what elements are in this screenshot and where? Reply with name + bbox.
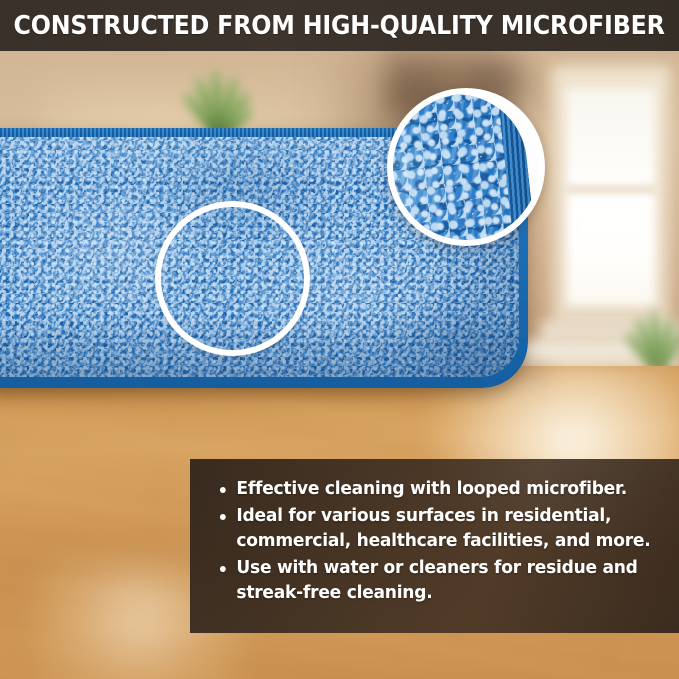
potted-plant — [158, 47, 268, 133]
banner-title: CONSTRUCTED FROM HIGH-QUALITY MICROFIBER — [14, 11, 665, 41]
pad-stitching-bottom — [0, 376, 519, 388]
list-item: Use with water or cleaners for residue a… — [218, 556, 652, 607]
magnified-inset-content — [393, 94, 539, 240]
list-item: Ideal for various surfaces in residentia… — [218, 504, 652, 555]
texture-highlight-ring — [155, 201, 310, 356]
potted-plant-secondary — [606, 278, 679, 368]
list-item: Effective cleaning with looped microfibe… — [218, 477, 652, 503]
feature-list: Effective cleaning with looped microfibe… — [218, 477, 665, 607]
window-glass — [566, 88, 656, 306]
product-marketing-image: CONSTRUCTED FROM HIGH-QUALITY MICROFIBER… — [0, 0, 679, 679]
feature-bullets-panel: Effective cleaning with looped microfibe… — [190, 459, 679, 633]
header-banner: CONSTRUCTED FROM HIGH-QUALITY MICROFIBER — [0, 0, 679, 51]
window-mullion — [566, 186, 656, 193]
magnified-corner-inset — [387, 88, 545, 246]
magnified-pad-corner — [393, 94, 538, 240]
